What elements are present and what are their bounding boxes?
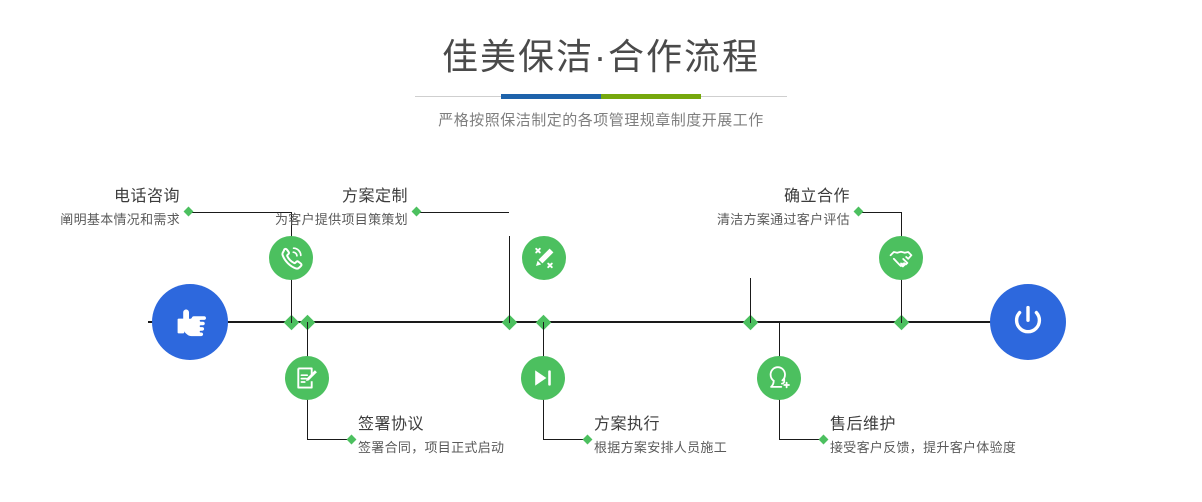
step-desc-1: 阐明基本情况和需求 <box>0 210 180 230</box>
step-desc-3: 为客户提供项目策策划 <box>228 210 408 230</box>
pencil-ruler-icon <box>531 245 557 271</box>
step-label-6: 售后维护 接受客户反馈，提升客户体验度 <box>830 414 1130 458</box>
divider-segment-green <box>601 94 701 99</box>
step-title-2: 签署协议 <box>358 414 618 436</box>
step-desc-5: 清洁方案通过客户评估 <box>670 210 850 230</box>
step-title-1: 电话咨询 <box>0 186 180 208</box>
connector-elbow-3 <box>419 212 509 213</box>
page-subtitle: 严格按照保洁制定的各项管理规章制度开展工作 <box>0 110 1202 132</box>
label-marker-1 <box>184 207 194 217</box>
headset-support-icon <box>766 365 792 391</box>
pointing-hand-icon <box>170 302 210 342</box>
step-title-5: 确立合作 <box>670 186 850 208</box>
cooperation-process-infographic: 佳美保洁·合作流程 严格按照保洁制定的各项管理规章制度开展工作 <box>0 0 1202 502</box>
phone-call-icon <box>278 245 304 271</box>
step-icon-5[interactable] <box>879 236 923 280</box>
step-title-3: 方案定制 <box>228 186 408 208</box>
divider-segment-blue <box>501 94 601 99</box>
step-label-5: 确立合作 清洁方案通过客户评估 <box>670 186 850 230</box>
step-icon-1[interactable] <box>269 236 313 280</box>
step-icon-3[interactable] <box>522 236 566 280</box>
play-forward-icon <box>530 365 556 391</box>
connector-elbow-5 <box>861 212 901 213</box>
step-label-2: 签署协议 签署合同，项目正式启动 <box>358 414 618 458</box>
step-icon-6[interactable] <box>757 356 801 400</box>
step-title-4: 方案执行 <box>594 414 854 436</box>
step-label-3: 方案定制 为客户提供项目策策划 <box>228 186 408 230</box>
label-marker-5 <box>854 207 864 217</box>
label-marker-3 <box>412 207 422 217</box>
header: 佳美保洁·合作流程 严格按照保洁制定的各项管理规章制度开展工作 <box>0 34 1202 132</box>
timeline-end-node[interactable] <box>990 284 1066 360</box>
step-icon-4[interactable] <box>521 356 565 400</box>
connector-elbow-6 <box>779 439 823 440</box>
connector-stem-3 <box>509 236 510 323</box>
connector-stem-5b <box>750 278 751 323</box>
step-desc-6: 接受客户反馈，提升客户体验度 <box>830 438 1130 458</box>
step-desc-2: 签署合同，项目正式启动 <box>358 438 618 458</box>
title-divider <box>415 94 787 99</box>
document-pen-icon <box>294 365 320 391</box>
step-label-4: 方案执行 根据方案安排人员施工 <box>594 414 854 458</box>
step-icon-2[interactable] <box>285 356 329 400</box>
step-title-6: 售后维护 <box>830 414 1130 436</box>
step-desc-4: 根据方案安排人员施工 <box>594 438 854 458</box>
connector-elbow-2 <box>307 439 351 440</box>
handshake-icon <box>888 245 914 271</box>
process-timeline: 电话咨询 阐明基本情况和需求 签署协议 签署合同，项目正式启动 <box>0 160 1202 502</box>
power-button-icon <box>1007 301 1049 343</box>
timeline-start-node[interactable] <box>152 284 228 360</box>
step-label-1: 电话咨询 阐明基本情况和需求 <box>0 186 180 230</box>
page-title: 佳美保洁·合作流程 <box>0 34 1202 80</box>
connector-elbow-4 <box>543 439 587 440</box>
label-marker-2 <box>347 435 357 445</box>
